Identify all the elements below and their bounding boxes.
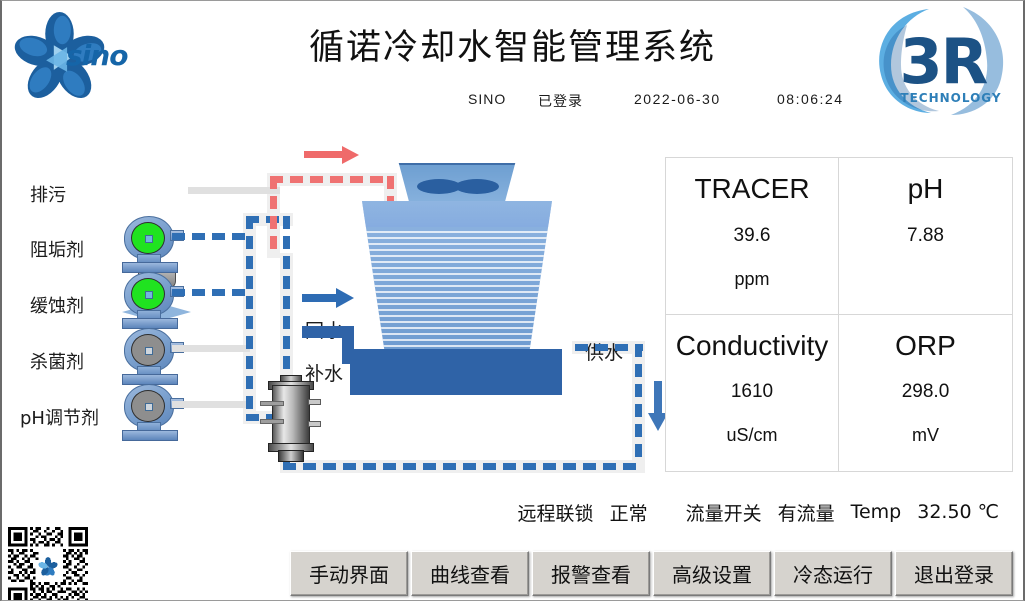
pump-hub (145, 235, 153, 243)
measurement-unit: uS/cm (726, 425, 777, 446)
measurement-ph[interactable]: pH 7.88 (839, 158, 1012, 315)
header-username: SINO (468, 91, 506, 107)
label-ph-adjuster: pH调节剂 (20, 404, 99, 430)
fan-blade-right-icon (455, 179, 499, 194)
flow-switch-label: 流量开关 (686, 499, 762, 526)
logout-button[interactable]: 退出登录 (895, 551, 1013, 596)
pipe-dose-scale (172, 233, 250, 240)
alarm-view-button[interactable]: 报警查看 (532, 551, 650, 596)
temp-label: Temp (851, 501, 902, 523)
manual-interface-button[interactable]: 手动界面 (290, 551, 408, 596)
pipe-return-left (270, 176, 277, 256)
qr-code-icon (8, 527, 88, 601)
tower-fan-stack (395, 163, 519, 205)
pipe-supply-right (635, 344, 642, 464)
cold-run-button[interactable]: 冷态运行 (774, 551, 892, 596)
pump-rotor-on (131, 278, 165, 310)
measurement-value: 1610 (731, 381, 773, 403)
3r-technology-logo: 3R TECHNOLOGY (867, 3, 1017, 119)
tower-fill-section (362, 201, 552, 353)
svg-text:TECHNOLOGY: TECHNOLOGY (900, 91, 1001, 105)
pipe-supply-top (575, 344, 643, 351)
pipe-dose-ph (172, 401, 250, 408)
label-biocide: 杀菌剂 (30, 348, 84, 374)
pump-scale-inhibitor[interactable] (120, 216, 182, 274)
cooling-tower (342, 163, 592, 418)
pump-rotor-off (131, 390, 165, 422)
pump-biocide[interactable] (120, 328, 182, 386)
navigation-button-bar: 手动界面 曲线查看 报警查看 高级设置 冷态运行 退出登录 (290, 551, 1013, 596)
measurement-panel: TRACER 39.6 ppm pH 7.88 Conductivity 161… (665, 157, 1013, 472)
measurement-name: Conductivity (676, 331, 829, 362)
temp-unit: ℃ (978, 501, 999, 523)
pipe-dose-biocide (172, 345, 250, 352)
header: sino 循诺冷却水智能管理系统 SINO 已登录 2022-06-30 08:… (2, 1, 1023, 123)
makeup-arrow-shaft (302, 294, 340, 302)
pump-hub (145, 347, 153, 355)
measurement-name: pH (908, 174, 944, 205)
flow-switch-value: 有流量 (778, 499, 835, 526)
measurement-value: 39.6 (734, 225, 771, 247)
label-scale-inhibitor: 阻垢剂 (30, 236, 84, 262)
cooling-water-management-screen: sino 循诺冷却水智能管理系统 SINO 已登录 2022-06-30 08:… (0, 0, 1025, 601)
remote-interlock-label: 远程联锁 (518, 499, 594, 526)
label-supply-water: 供水 (585, 338, 623, 365)
return-arrow-head (342, 146, 359, 164)
pipe-dose-corrosion (172, 289, 250, 296)
measurement-orp[interactable]: ORP 298.0 mV (839, 315, 1012, 472)
temp-value: 32.50 (917, 501, 971, 523)
pipe-blowdown (188, 187, 280, 194)
remote-interlock-value: 正常 (610, 499, 648, 526)
header-date: 2022-06-30 (634, 91, 721, 107)
pump-rotor-off (131, 334, 165, 366)
pump-hub (145, 403, 153, 411)
qr-code[interactable] (8, 527, 88, 601)
label-makeup-water: 补水 (305, 359, 343, 386)
header-login-status: 已登录 (538, 91, 583, 111)
label-blowdown: 排污 (30, 181, 66, 207)
analyzer-shell (272, 385, 310, 449)
pump-hub (145, 291, 153, 299)
return-arrow-shaft (304, 151, 346, 158)
pump-ph-adjuster[interactable] (120, 384, 182, 442)
analyzer-probe-upper (260, 401, 284, 406)
svg-text:3R: 3R (900, 25, 988, 98)
trend-curve-button[interactable]: 曲线查看 (411, 551, 529, 596)
pump-rotor-on (131, 222, 165, 254)
analyzer-nipple-lower (308, 421, 321, 427)
tower-basin (350, 349, 562, 395)
pump-base (122, 430, 178, 441)
water-quality-analyzer[interactable] (260, 375, 322, 463)
tower-fill-top (362, 201, 552, 227)
measurement-tracer[interactable]: TRACER 39.6 ppm (666, 158, 839, 315)
header-time: 08:06:24 (777, 91, 844, 107)
measurement-name: TRACER (694, 174, 809, 205)
measurement-name: ORP (895, 331, 956, 362)
3r-logo-icon: 3R TECHNOLOGY (867, 3, 1017, 119)
analyzer-cone (278, 450, 304, 462)
process-flow-diagram: 排污 阻垢剂 缓蚀剂 杀菌剂 pH调节剂 (2, 123, 662, 483)
measurement-value: 298.0 (902, 381, 950, 403)
advanced-settings-button[interactable]: 高级设置 (653, 551, 771, 596)
analyzer-nipple-upper (308, 399, 321, 405)
pump-corrosion-inhibitor[interactable] (120, 272, 182, 330)
measurement-unit: ppm (734, 269, 769, 290)
pipe-loop-bottom (283, 463, 642, 470)
measurement-conductivity[interactable]: Conductivity 1610 uS/cm (666, 315, 839, 472)
measurement-unit: mV (912, 425, 939, 446)
label-corrosion-inhibitor: 缓蚀剂 (30, 292, 84, 318)
pipe-manifold-vertical (246, 216, 253, 416)
status-bar: 远程联锁 正常 流量开关 有流量 Temp 32.50 ℃ (2, 491, 1023, 533)
measurement-value: 7.88 (907, 225, 944, 247)
supply-arrow-shaft (654, 381, 662, 417)
analyzer-probe-lower (260, 419, 284, 424)
